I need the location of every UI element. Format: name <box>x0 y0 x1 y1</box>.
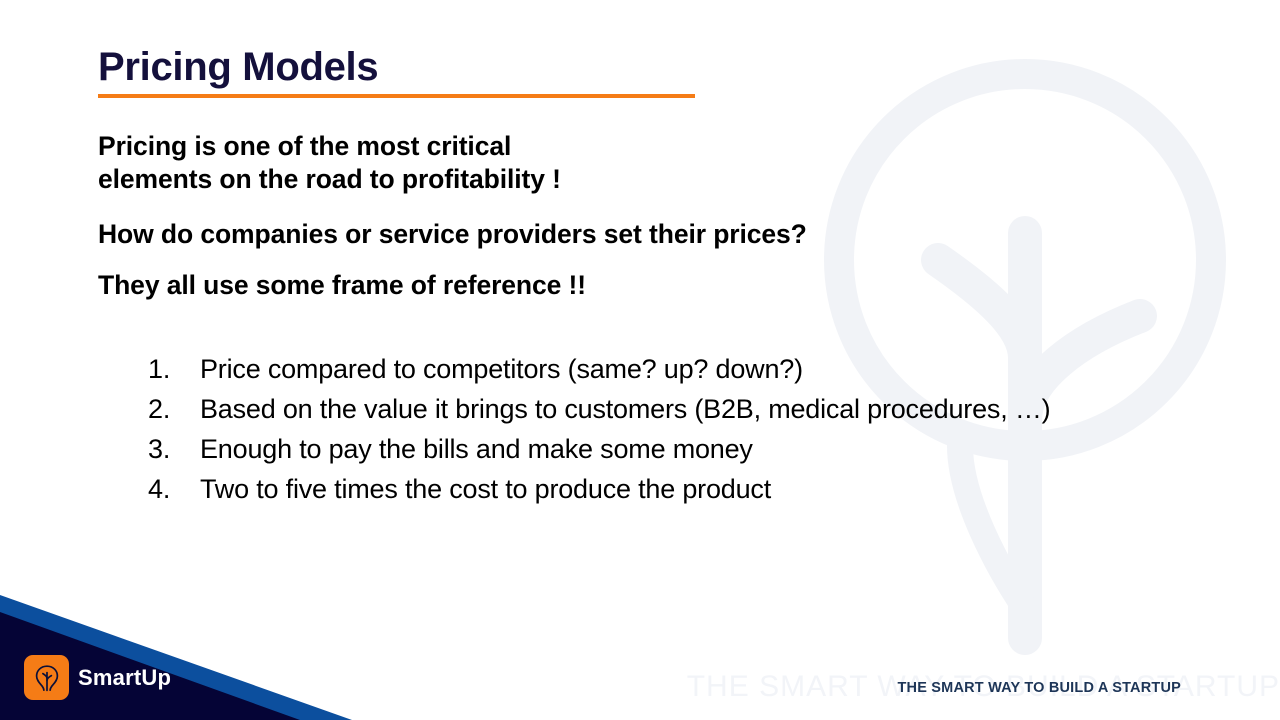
list-item: 3. Enough to pay the bills and make some… <box>148 430 1158 470</box>
footer-brand-name: SmartUp <box>78 665 171 691</box>
list-item-number: 4. <box>148 470 200 510</box>
body-text-block: Pricing is one of the most critical elem… <box>98 130 1158 319</box>
list-item-text: Two to five times the cost to produce th… <box>200 470 1158 510</box>
list-item: 2. Based on the value it brings to custo… <box>148 390 1158 430</box>
list-item: 4. Two to five times the cost to produce… <box>148 470 1158 510</box>
title-underline-rule <box>98 94 695 98</box>
footer-logo: SmartUp <box>24 655 171 700</box>
lead-paragraph-1: Pricing is one of the most critical elem… <box>98 130 1158 196</box>
lead-paragraph-1-line-2: elements on the road to profitability ! <box>98 163 1158 196</box>
smartup-tree-bulb-icon <box>24 655 69 700</box>
list-item-number: 2. <box>148 390 200 430</box>
lead-paragraph-1-line-1: Pricing is one of the most critical <box>98 130 1158 163</box>
lead-paragraph-3: They all use some frame of reference !! <box>98 269 1158 302</box>
numbered-list: 1. Price compared to competitors (same? … <box>148 350 1158 510</box>
list-item-number: 1. <box>148 350 200 390</box>
footer-tagline: THE SMART WAY TO BUILD A STARTUP <box>897 680 1181 696</box>
lead-paragraph-2: How do companies or service providers se… <box>98 218 1158 251</box>
list-item-text: Enough to pay the bills and make some mo… <box>200 430 1158 470</box>
slide-canvas: Pricing Models Pricing is one of the mos… <box>0 0 1280 720</box>
list-item: 1. Price compared to competitors (same? … <box>148 350 1158 390</box>
title-block: Pricing Models <box>98 46 798 98</box>
list-item-number: 3. <box>148 430 200 470</box>
page-title: Pricing Models <box>98 46 798 88</box>
list-item-text: Price compared to competitors (same? up?… <box>200 350 1158 390</box>
lead-paragraph-3-line-1: They all use some frame of reference !! <box>98 269 1158 302</box>
list-item-text: Based on the value it brings to customer… <box>200 390 1158 430</box>
lead-paragraph-2-line-1: How do companies or service providers se… <box>98 218 1158 251</box>
